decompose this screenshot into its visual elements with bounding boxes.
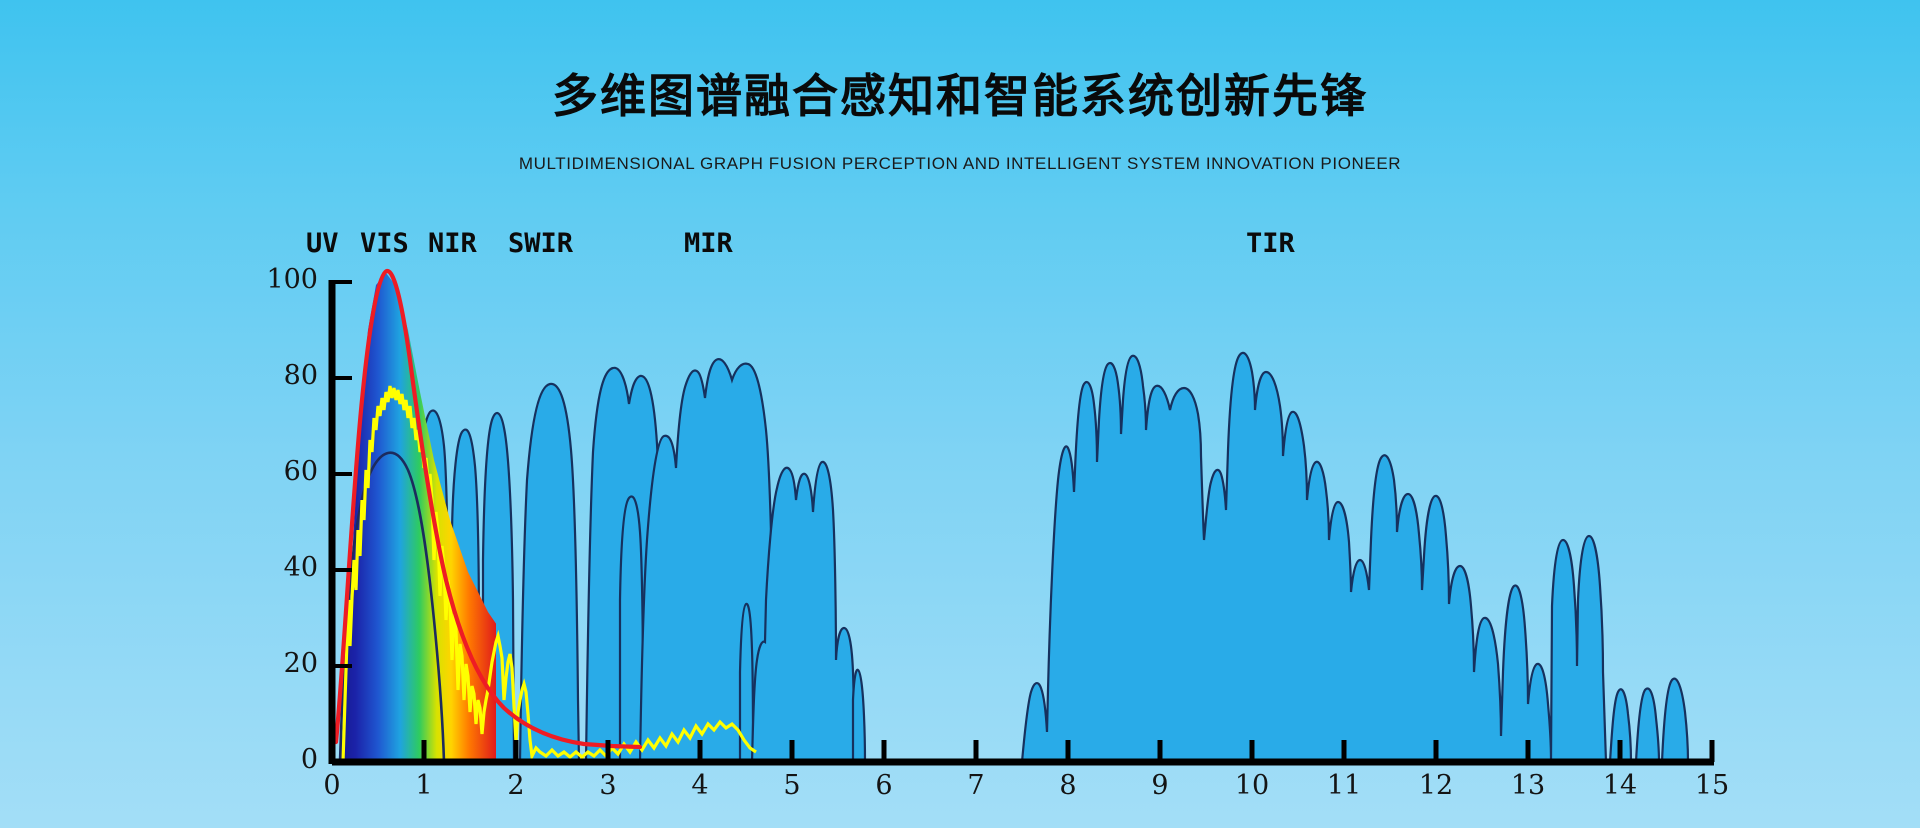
x-tick-label-5: 5: [762, 770, 822, 801]
transmission-window-tir: [1022, 353, 1688, 762]
transmission-window-mir-d: [853, 670, 865, 762]
transmission-window-mir-a: [620, 496, 643, 762]
y-tick-label-100: 100: [232, 264, 318, 295]
x-tick-label-11: 11: [1314, 770, 1374, 801]
y-tick-label-40: 40: [232, 552, 318, 583]
x-tick-label-15: 15: [1682, 770, 1742, 801]
x-tick-label-8: 8: [1038, 770, 1098, 801]
y-tick-label-60: 60: [232, 456, 318, 487]
transmission-windows: [353, 353, 1688, 762]
x-tick-label-3: 3: [578, 770, 638, 801]
x-tick-label-0: 0: [302, 770, 362, 801]
banner-root: 多维图谱融合感知和智能系统创新先锋 MULTIDIMENSIONAL GRAPH…: [0, 0, 1920, 828]
transmission-window-swir-b: [520, 384, 579, 762]
x-tick-label-10: 10: [1222, 770, 1282, 801]
x-tick-label-13: 13: [1498, 770, 1558, 801]
x-tick-label-2: 2: [486, 770, 546, 801]
y-tick-label-20: 20: [232, 648, 318, 679]
x-tick-label-12: 12: [1406, 770, 1466, 801]
x-tick-label-7: 7: [946, 770, 1006, 801]
x-tick-label-9: 9: [1130, 770, 1190, 801]
spectrum-chart: [0, 0, 1920, 828]
x-tick-label-1: 1: [394, 770, 454, 801]
x-tick-label-6: 6: [854, 770, 914, 801]
x-tick-label-4: 4: [670, 770, 730, 801]
x-tick-label-14: 14: [1590, 770, 1650, 801]
y-tick-label-80: 80: [232, 360, 318, 391]
